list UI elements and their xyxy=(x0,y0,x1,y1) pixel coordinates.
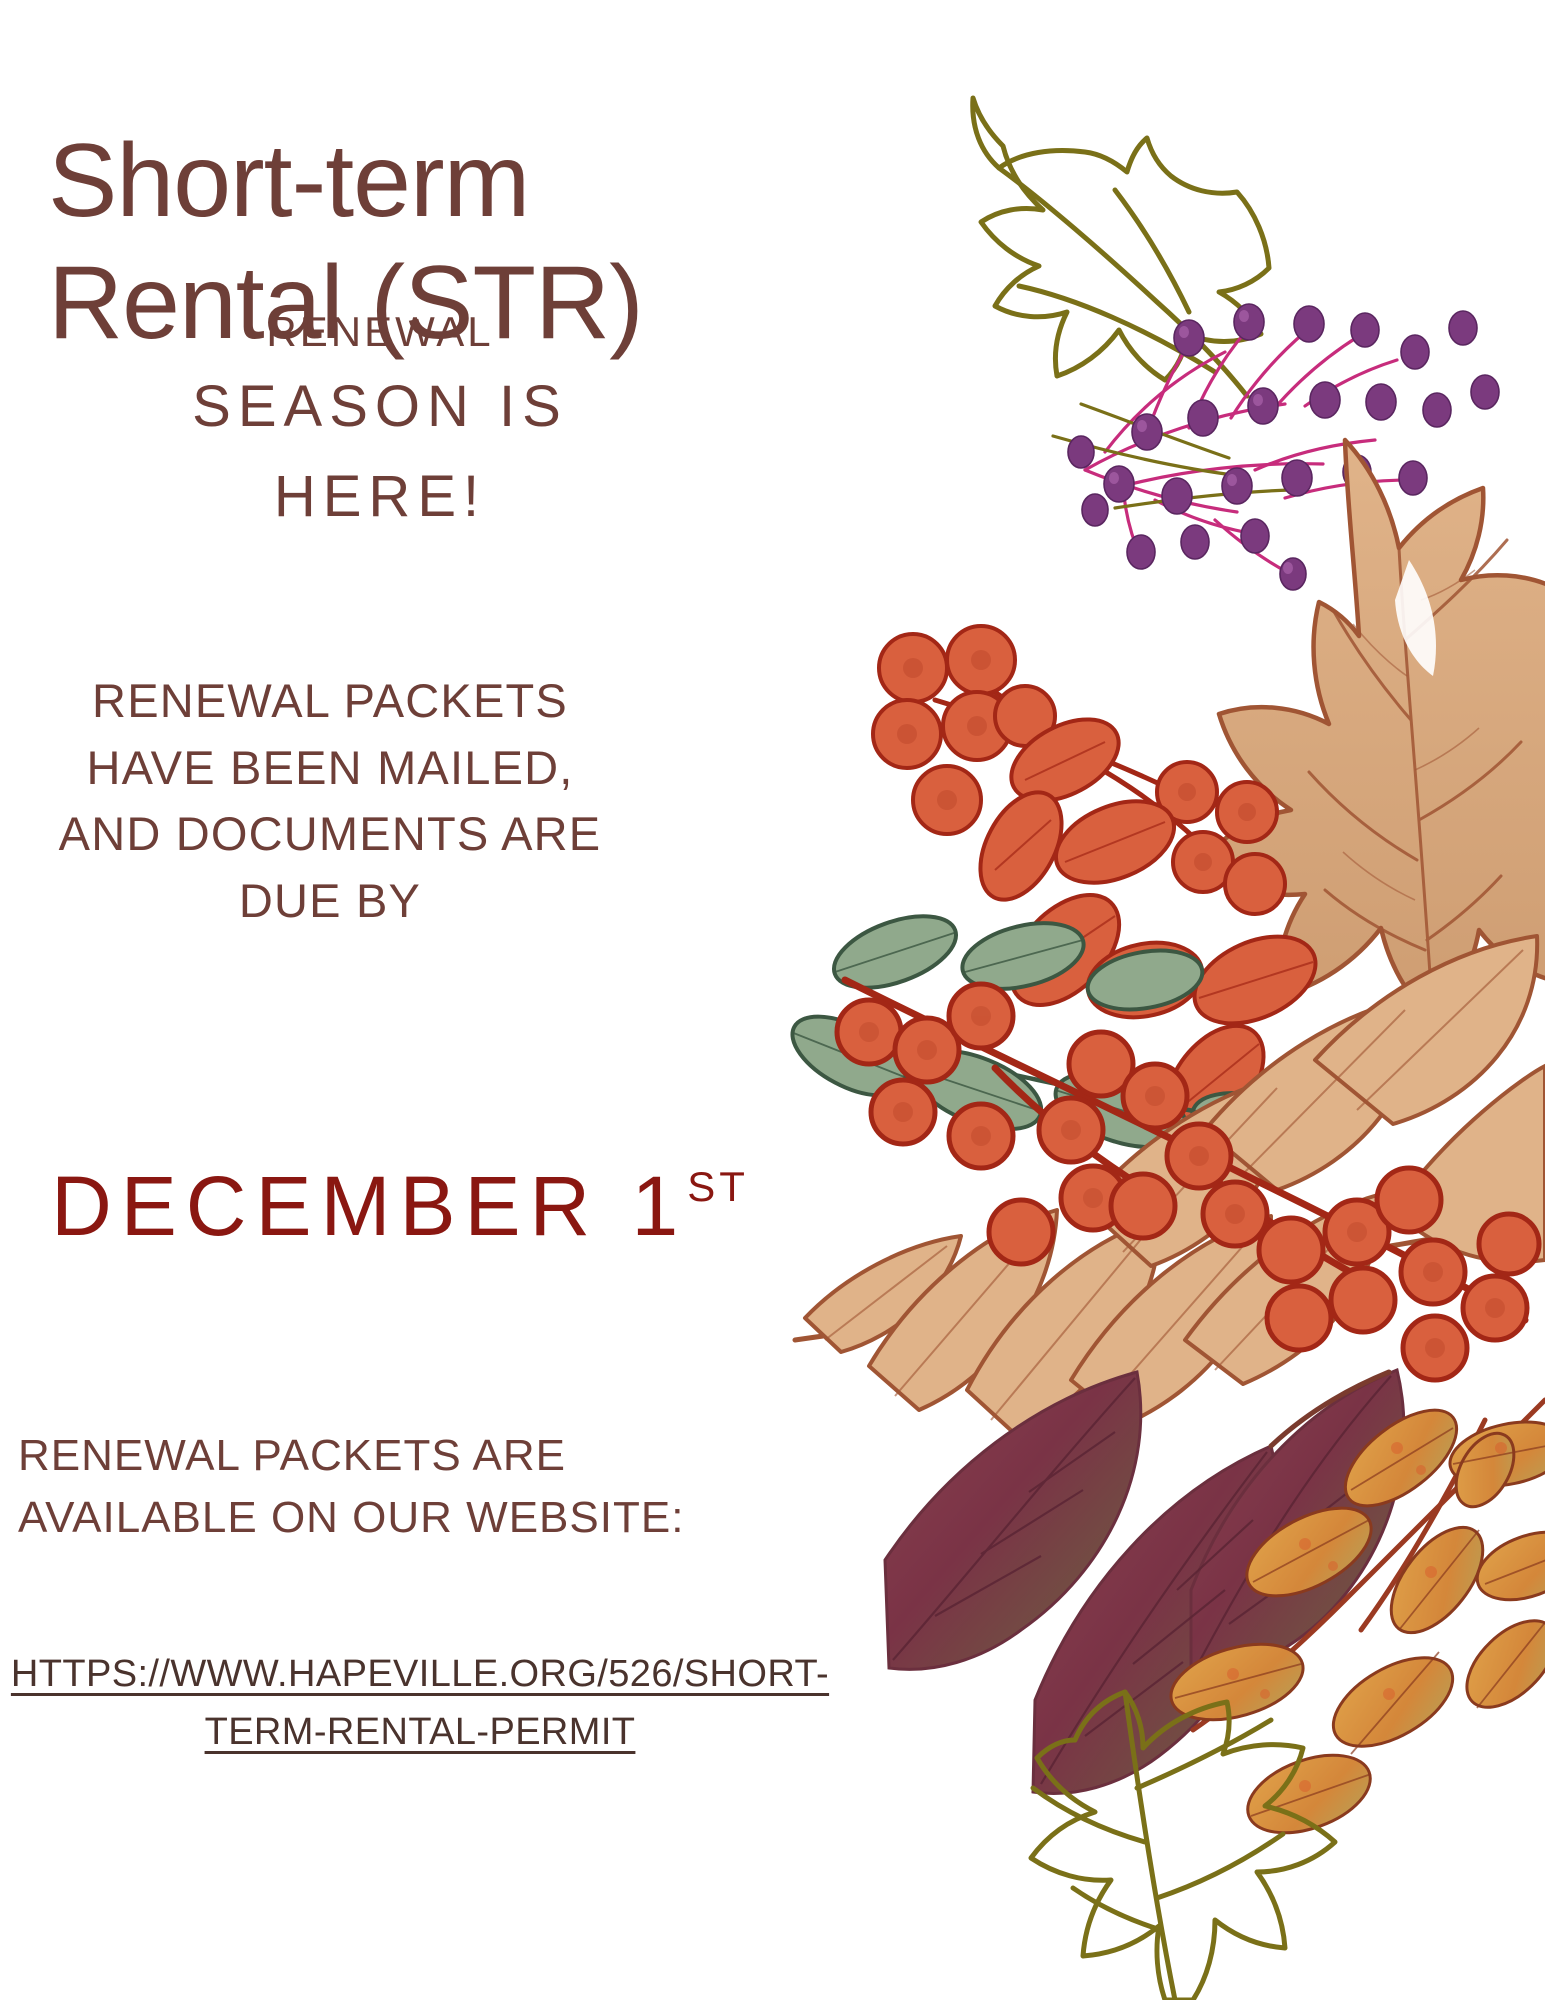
deadline-date: DECEMBER 1ST xyxy=(0,1158,800,1255)
orange-berry-cluster-upper xyxy=(873,626,1391,1152)
amber-autumn-leaflets xyxy=(1162,1392,1545,1848)
title-line-1: Short-term xyxy=(48,123,529,239)
purple-berry-cluster xyxy=(1053,304,1499,590)
orange-berry-cluster-lower xyxy=(837,980,1539,1380)
body-line-3: AND DOCUMENTS ARE xyxy=(0,801,660,868)
body-paragraph: RENEWAL PACKETS HAVE BEEN MAILED, AND DO… xyxy=(0,668,660,935)
tan-maple-leaf xyxy=(1197,440,1545,1020)
poster-canvas: Short-term Rental (STR) RENEWAL SEASON I… xyxy=(0,0,1545,2000)
plum-autumn-leaves xyxy=(885,1370,1404,1794)
url-line-1[interactable]: HTTPS://WWW.HAPEVILLE.ORG/526/SHORT- xyxy=(11,1648,829,1702)
subtitle-heading: SEASON IS HERE! xyxy=(0,362,760,542)
url-line-2[interactable]: TERM-RENTAL-PERMIT xyxy=(0,1706,840,1760)
deadline-month: DECEMBER xyxy=(51,1159,599,1253)
website-note-line-2: AVAILABLE ON OUR WEBSITE: xyxy=(18,1487,718,1549)
olive-maple-leaf-outline-bottom xyxy=(1031,1692,1335,2000)
body-line-4: DUE BY xyxy=(0,868,660,935)
sage-green-leaflets xyxy=(785,902,1320,1170)
subtitle-line-2: HERE! xyxy=(0,452,760,542)
poster-text-column: Short-term Rental (STR) RENEWAL SEASON I… xyxy=(0,0,840,2000)
autumn-botanical-illustration xyxy=(785,0,1545,2000)
subtitle-line-1: SEASON IS xyxy=(0,362,760,452)
body-line-2: HAVE BEEN MAILED, xyxy=(0,735,660,802)
subtitle-kicker: RENEWAL xyxy=(0,308,760,356)
tan-ash-leaflets xyxy=(795,936,1545,1434)
deadline-ordinal-suffix: ST xyxy=(687,1163,749,1210)
website-note: RENEWAL PACKETS ARE AVAILABLE ON OUR WEB… xyxy=(18,1425,718,1548)
website-url-link[interactable]: HTTPS://WWW.HAPEVILLE.ORG/526/SHORT- TER… xyxy=(0,1648,840,1760)
website-note-line-1: RENEWAL PACKETS ARE xyxy=(18,1425,718,1487)
olive-maple-leaf-outline-top xyxy=(973,98,1269,396)
body-line-1: RENEWAL PACKETS xyxy=(0,668,660,735)
deadline-day: 1 xyxy=(632,1159,688,1253)
